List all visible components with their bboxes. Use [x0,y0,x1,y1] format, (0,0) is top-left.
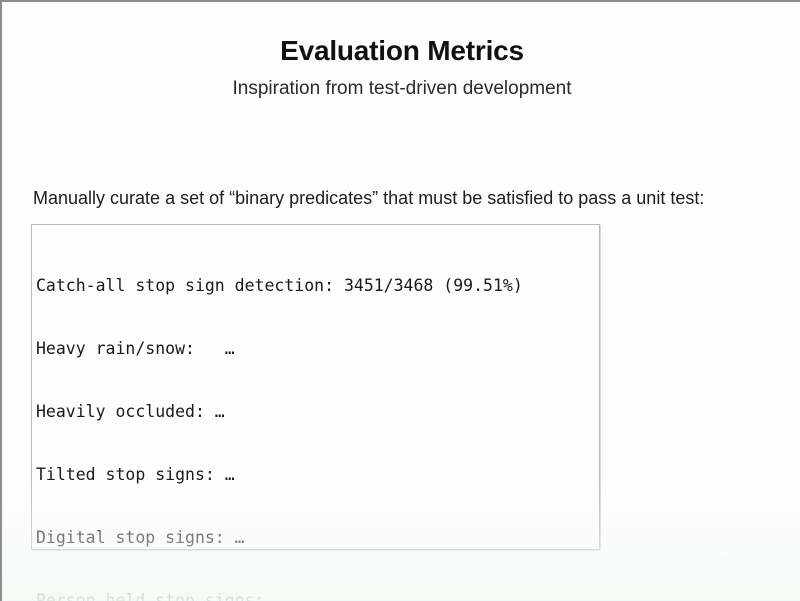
list-item: Catch-all stop sign detection: 3451/3468… [36,275,599,296]
lead-paragraph: Manually curate a set of “binary predica… [33,188,704,209]
list-item: Heavy rain/snow: … [36,338,599,359]
predicate-list: Catch-all stop sign detection: 3451/3468… [32,225,599,601]
watermark-logo-icon [688,551,792,595]
predicate-code-box: Catch-all stop sign detection: 3451/3468… [31,224,600,550]
list-item: Digital stop signs: … [36,527,599,548]
page-title: Evaluation Metrics [2,35,800,67]
list-item: Tilted stop signs: … [36,464,599,485]
list-item: Person held stop signs: … [36,590,599,601]
page-subtitle: Inspiration from test-driven development [2,78,800,100]
slide-canvas: Evaluation Metrics Inspiration from test… [0,0,800,601]
list-item: Heavily occluded: … [36,401,599,422]
